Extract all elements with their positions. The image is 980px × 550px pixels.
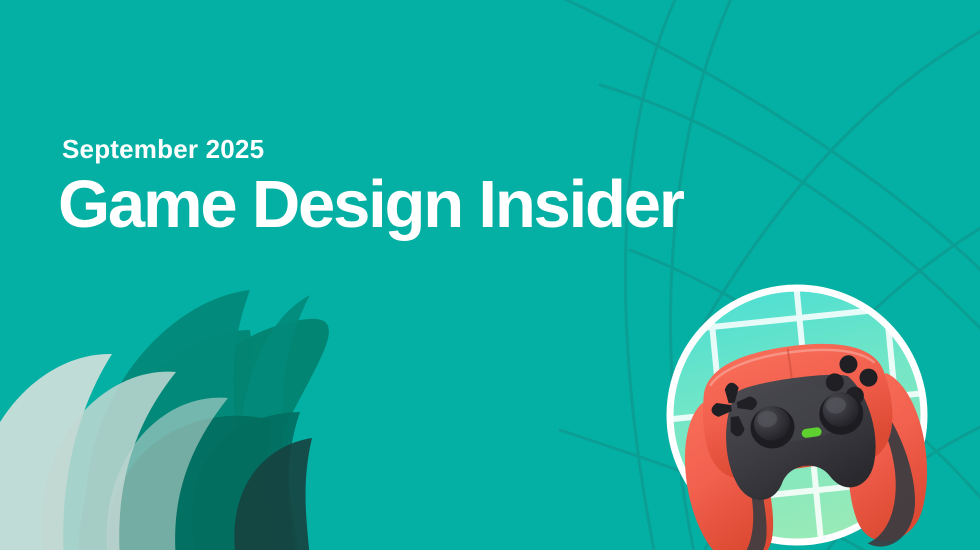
leaf-teal-dark-2	[192, 412, 300, 550]
leaf-teal-dark	[108, 416, 272, 550]
leaf-teal-mid-2	[78, 330, 251, 550]
page-title: Game Design Insider	[58, 169, 683, 240]
leaf-mint-pale2	[41, 372, 176, 550]
leaf-teal-mid	[183, 319, 329, 550]
leaf-teal-petal	[86, 290, 258, 550]
leaf-mint-pale3	[107, 398, 228, 550]
leaf-teal-deep	[234, 438, 312, 550]
controller-illustration	[654, 272, 940, 550]
headline-block: September 2025 Game Design Insider	[58, 134, 683, 240]
leaf-mint-pale	[0, 354, 112, 550]
newsletter-banner: September 2025 Game Design Insider	[0, 0, 980, 550]
controller-medallion	[654, 272, 940, 550]
issue-date: September 2025	[62, 134, 683, 165]
leaf-teal-petal-right	[237, 295, 310, 550]
